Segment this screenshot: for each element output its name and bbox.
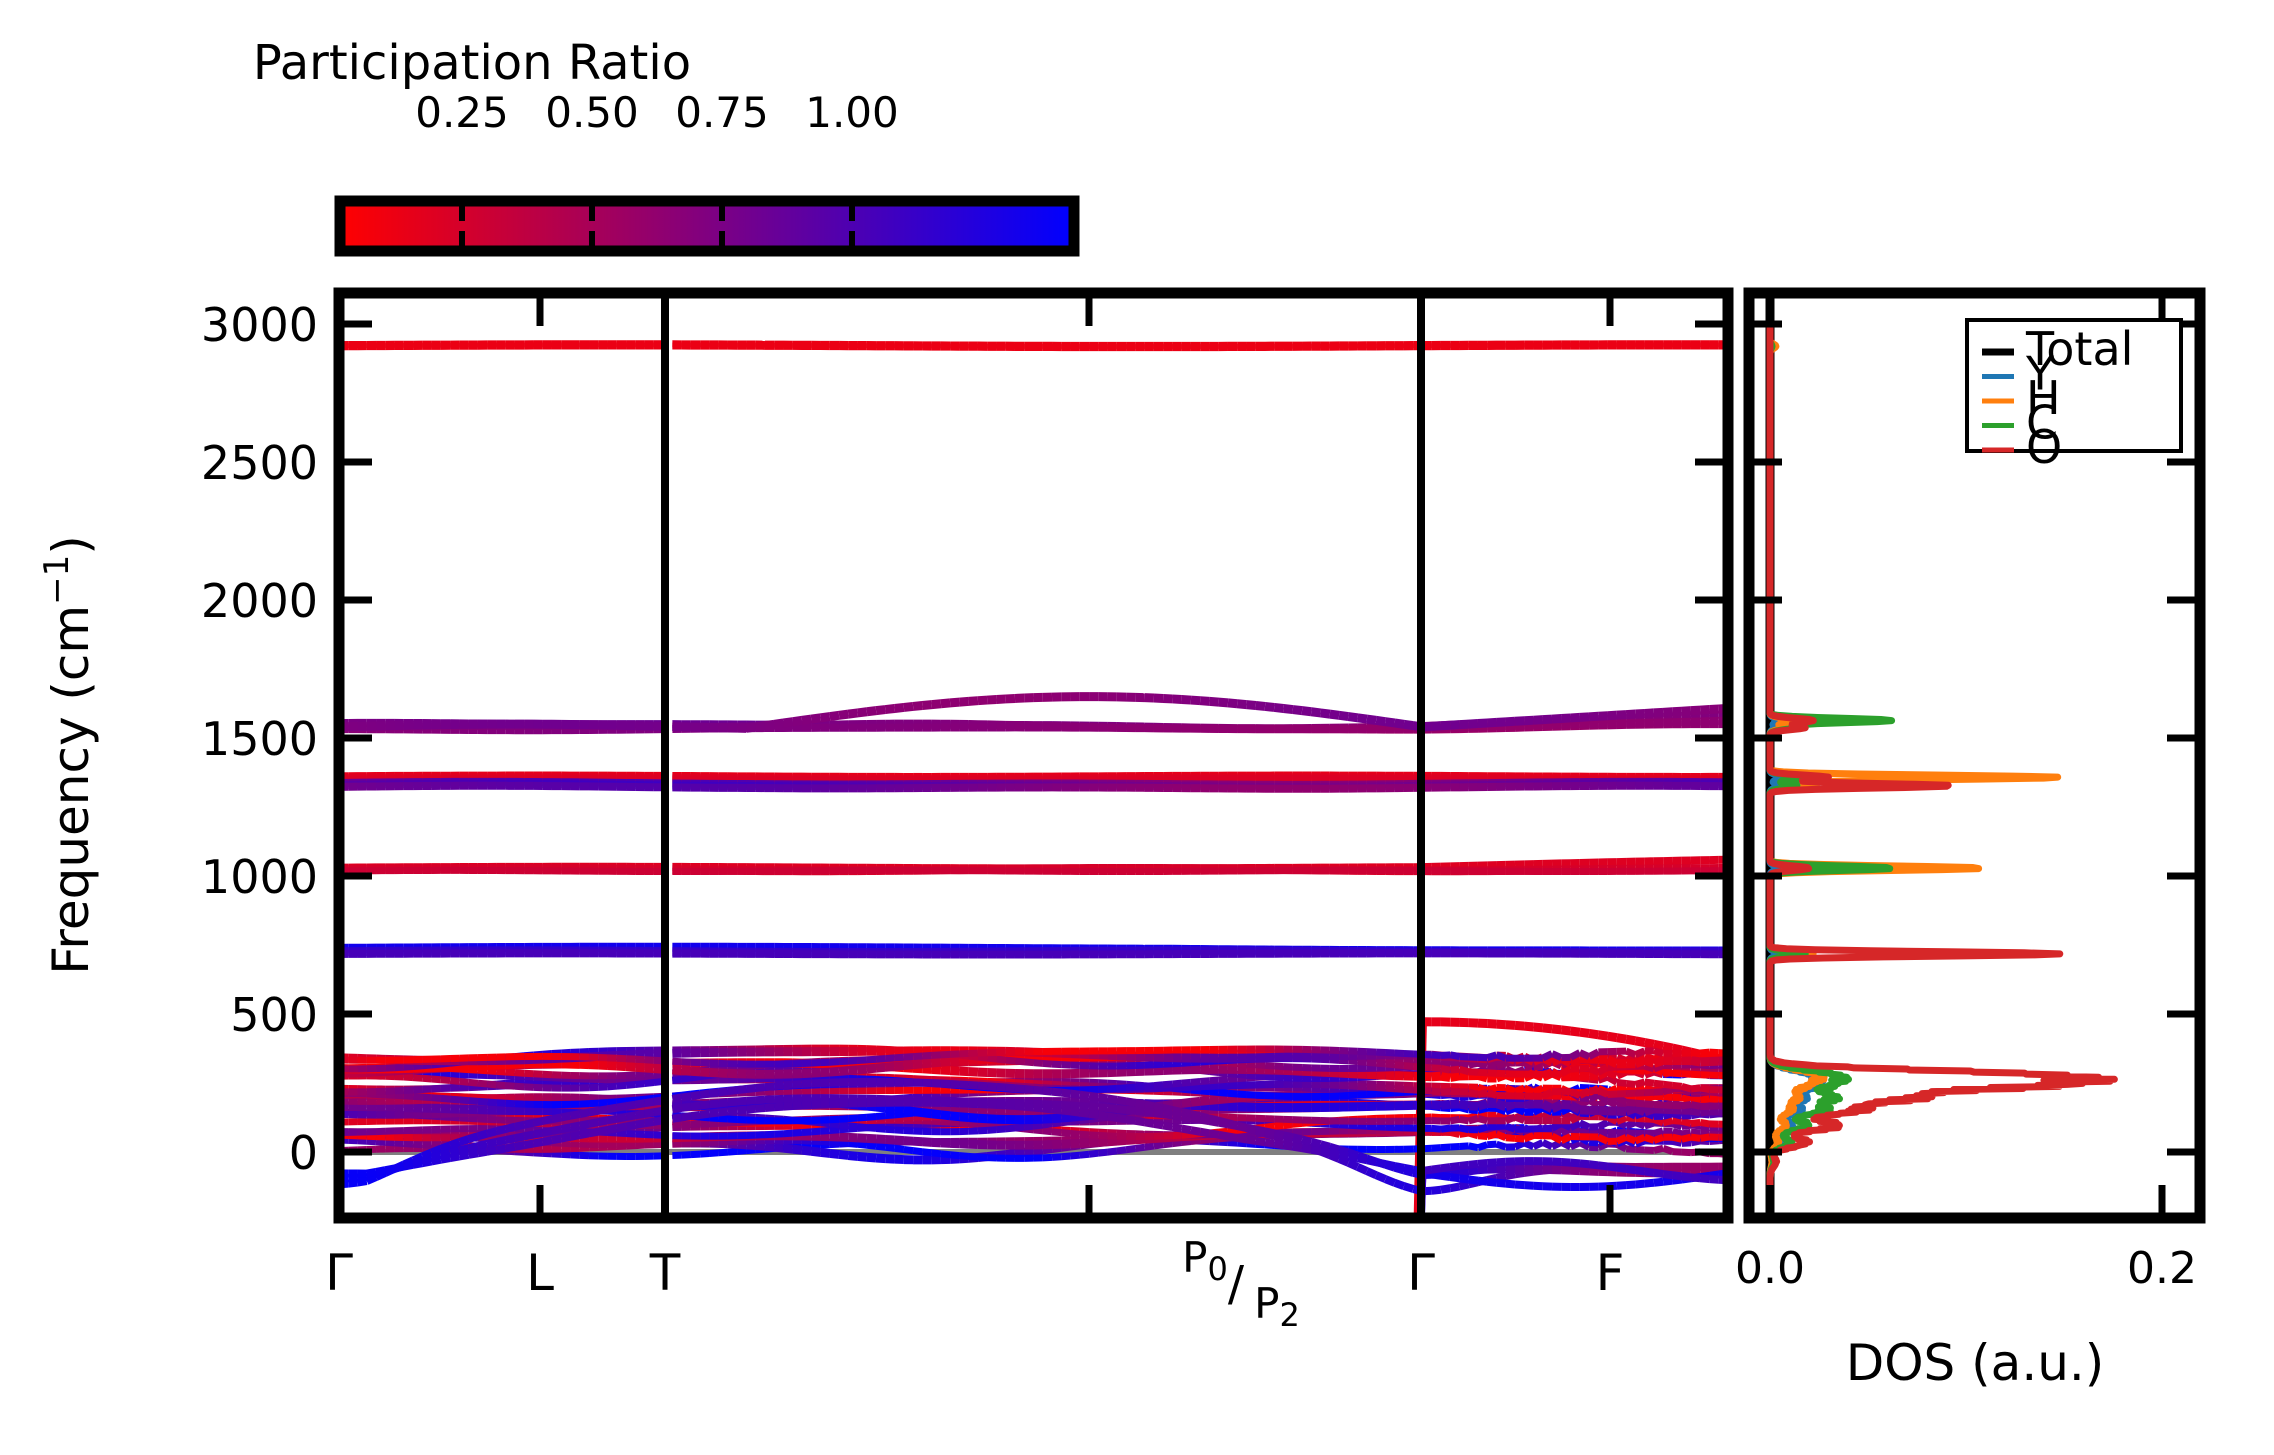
colorbar-tick-3: 1.00 — [805, 88, 899, 137]
bands-x-symbol-labels: Γ L T Γ F — [325, 1244, 1624, 1302]
x-symbol-T: T — [649, 1244, 681, 1302]
figure-canvas: Participation Ratio 0.25 0.50 0.75 1.00 — [0, 0, 2274, 1455]
dos-x-tick-0: 0.0 — [1735, 1243, 1805, 1294]
y-tick-label-500: 500 — [230, 988, 318, 1042]
dos-x-tick-labels: 0.0 0.2 — [1735, 1243, 2197, 1294]
y-tick-label-3000: 3000 — [201, 298, 318, 352]
x-symbol-L: L — [526, 1244, 554, 1302]
bands-panel: 0 500 1000 1500 2000 2500 3000 Frequency… — [37, 293, 1728, 1448]
dos-x-tick-1: 0.2 — [2127, 1243, 2197, 1294]
colorbar-title: Participation Ratio — [253, 35, 691, 91]
y-tick-label-1000: 1000 — [201, 850, 318, 904]
x-symbol-gamma-1: Γ — [325, 1244, 353, 1302]
figure-svg: Participation Ratio 0.25 0.50 0.75 1.00 — [0, 0, 2274, 1455]
dos-x-axis-label: DOS (a.u.) — [1846, 1334, 2105, 1392]
colorbar-tick-2: 0.75 — [675, 88, 769, 137]
y-tick-label-0: 0 — [289, 1126, 318, 1180]
colorbar-gradient — [340, 201, 1074, 251]
x-symbol-gamma-2: Γ — [1407, 1244, 1435, 1302]
x-symbol-F: F — [1596, 1244, 1625, 1302]
y-tick-label-2500: 2500 — [201, 436, 318, 490]
y-tick-label-2000: 2000 — [201, 574, 318, 628]
bands-y-axis-label: Frequency (cm−1) — [37, 535, 100, 975]
y-tick-label-1500: 1500 — [201, 712, 318, 766]
dos-panel: 0.0 0.2 DOS (a.u.) TotalYHCO — [1735, 293, 2200, 1392]
dos-legend: TotalYHCO — [1967, 320, 2181, 474]
colorbar-tick-0: 0.25 — [415, 88, 509, 137]
legend-label-o: O — [2026, 420, 2062, 474]
colorbar: Participation Ratio 0.25 0.50 0.75 1.00 — [253, 35, 1074, 251]
x-symbol-p0-p2: P0 / P2 — [1182, 1233, 1300, 1334]
colorbar-tick-1: 0.50 — [545, 88, 639, 137]
bands-y-tick-labels: 0 500 1000 1500 2000 2500 3000 — [201, 298, 318, 1180]
